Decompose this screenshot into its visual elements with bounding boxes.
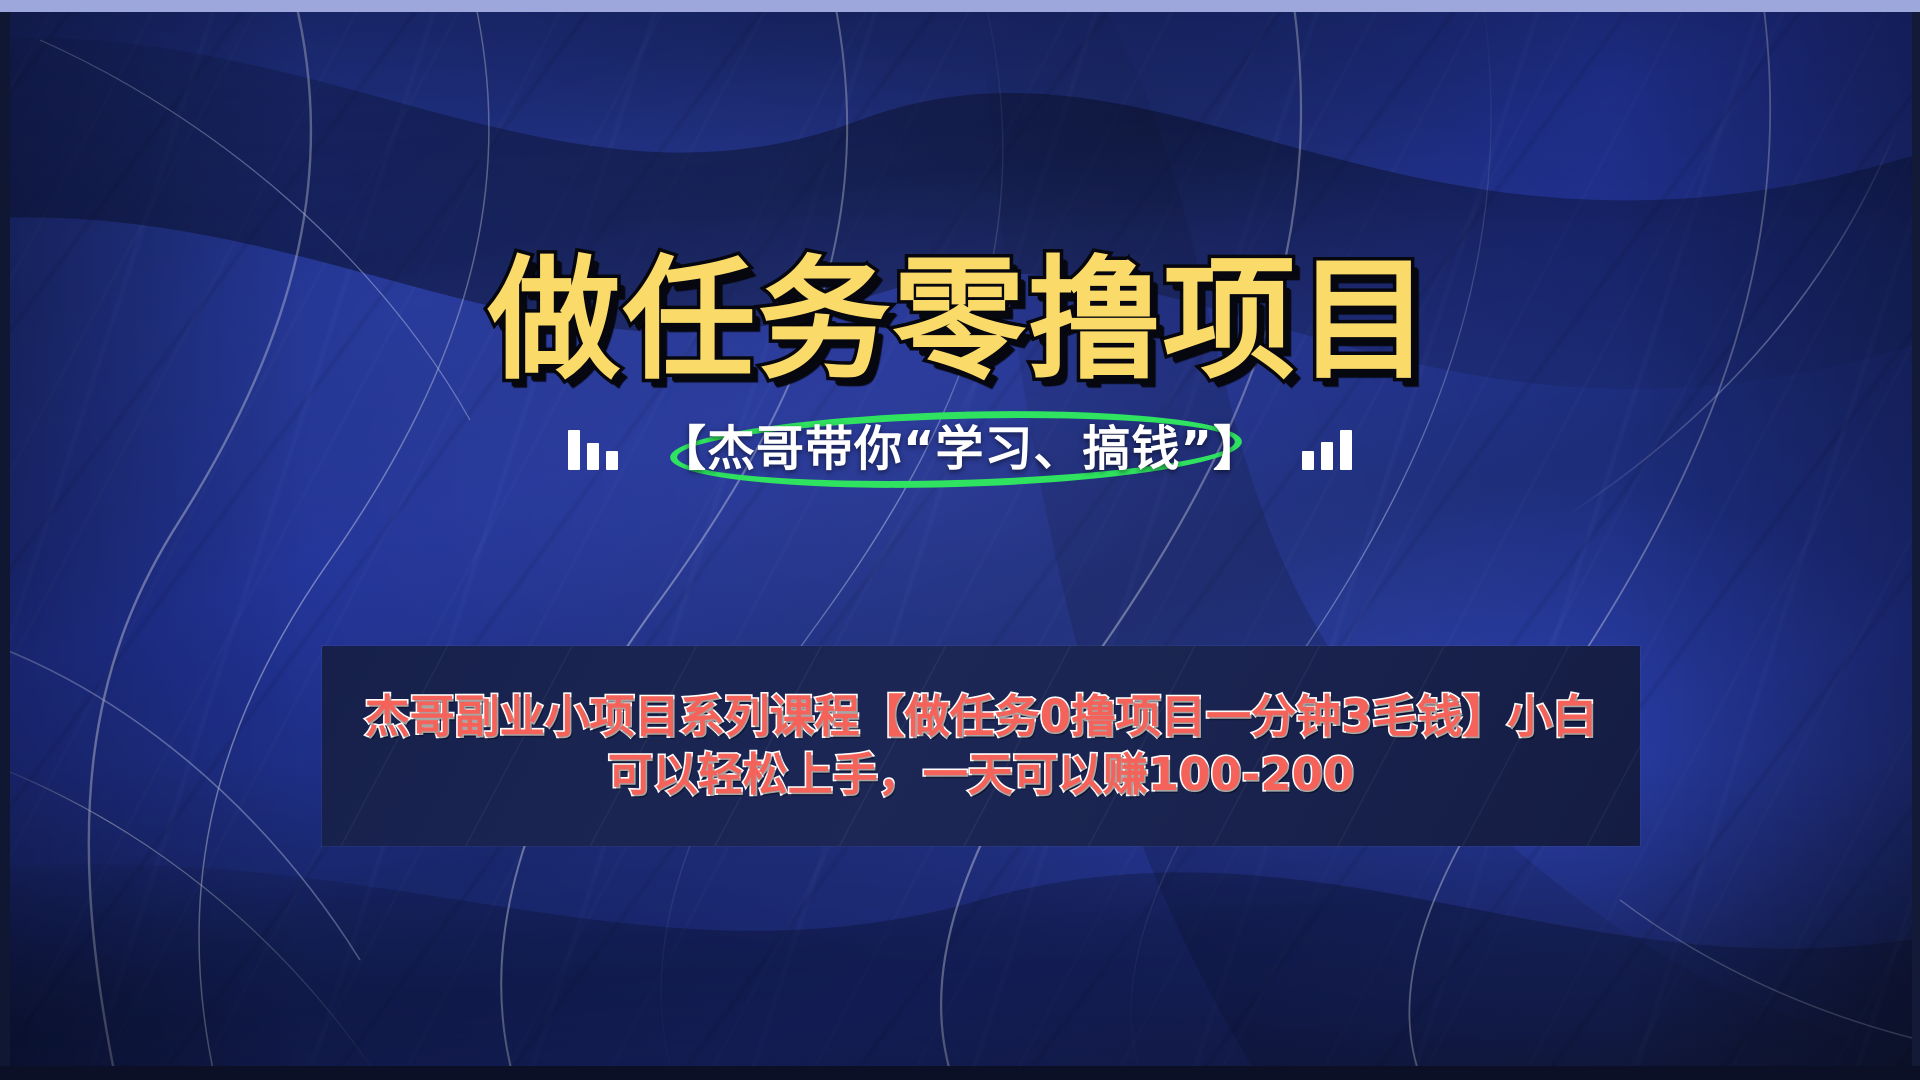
main-title: 做任务零撸项目 (0, 255, 1920, 388)
left-edge-band (0, 12, 10, 1066)
description-text: 杰哥副业小项目系列课程【做任务0撸项目一分钟3毛钱】小白可以轻松上手，一天可以赚… (359, 688, 1604, 805)
right-edge-band (1912, 12, 1920, 1066)
bar-chart-ascending-icon (1302, 428, 1352, 470)
description-panel: 杰哥副业小项目系列课程【做任务0撸项目一分钟3毛钱】小白可以轻松上手，一天可以赚… (322, 646, 1640, 846)
top-accent-bar (0, 0, 1920, 12)
subtitle-group: 【杰哥带你“学习、搞钱”】 (652, 425, 1268, 473)
description-line-1: 杰哥副业小项目系列课程【做任务0撸项目一分钟3毛 (365, 690, 1418, 743)
cover-stage: 做任务零撸项目 【杰哥带你“学习、搞钱”】 杰哥副业小项目系列课程【做任务0撸项… (0, 0, 1920, 1080)
bottom-accent-bar (0, 1066, 1920, 1080)
bar-chart-descending-icon (568, 428, 618, 470)
subtitle-row: 【杰哥带你“学习、搞钱”】 (0, 425, 1920, 473)
cover-content: 做任务零撸项目 【杰哥带你“学习、搞钱”】 杰哥副业小项目系列课程【做任务0撸项… (0, 0, 1920, 1080)
subtitle-text: 【杰哥带你“学习、搞钱”】 (658, 421, 1262, 477)
